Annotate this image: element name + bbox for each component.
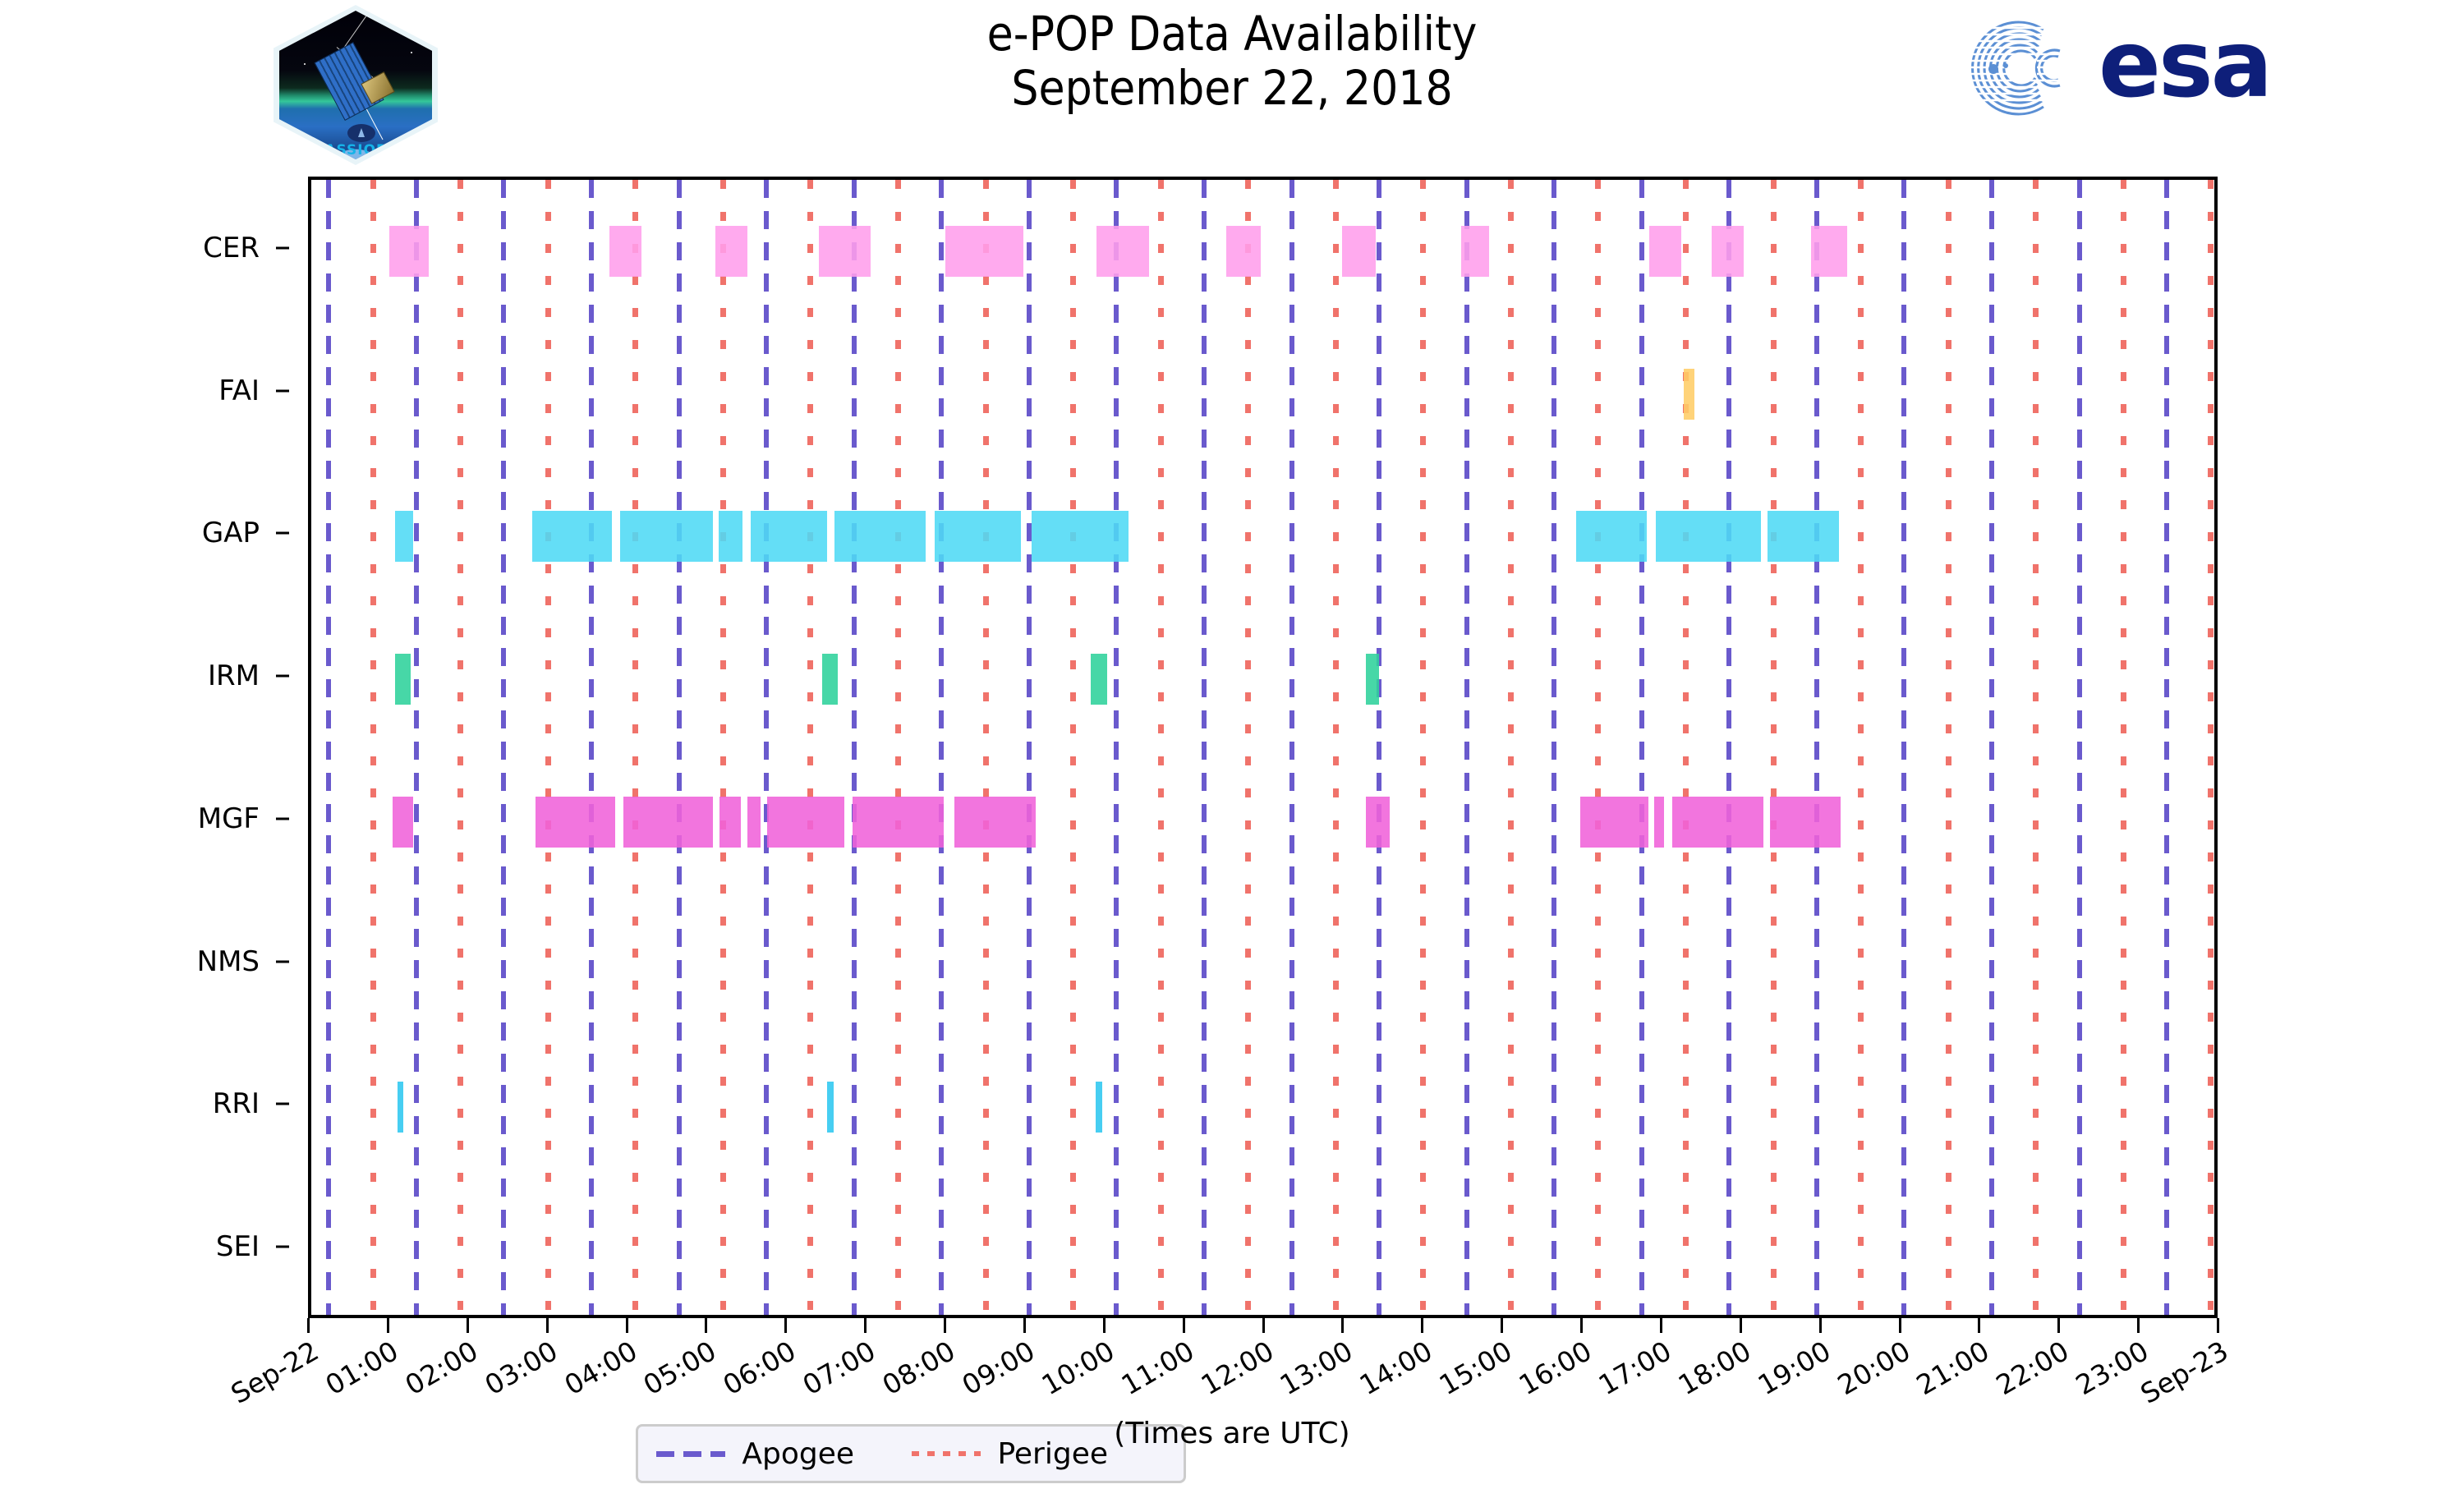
apogee-gridline xyxy=(1551,180,1556,1315)
apogee-gridline xyxy=(764,180,769,1315)
data-bar-cer xyxy=(1342,226,1377,277)
data-bar-cer xyxy=(715,226,747,277)
apogee-gridline xyxy=(677,180,682,1315)
data-bar-rri xyxy=(827,1082,834,1133)
data-bar-gap xyxy=(1032,511,1129,562)
data-bar-gap xyxy=(834,511,925,562)
data-bar-irm xyxy=(1366,654,1379,705)
x-tick-mark xyxy=(1023,1318,1026,1333)
apogee-gridline xyxy=(939,180,944,1315)
data-bar-mgf xyxy=(536,797,615,848)
apogee-gridline xyxy=(2164,180,2169,1315)
x-axis-title: (Times are UTC) xyxy=(0,1417,2464,1450)
perigee-gridline xyxy=(370,180,376,1315)
perigee-gridline xyxy=(1420,180,1426,1315)
data-bar-rri xyxy=(398,1082,404,1133)
perigee-gridline xyxy=(2033,180,2039,1315)
y-tick-label-cer: CER xyxy=(203,232,260,264)
y-tick-mark xyxy=(276,246,289,249)
perigee-gridline xyxy=(1858,180,1864,1315)
data-bar-gap xyxy=(1576,511,1646,562)
data-bar-cer xyxy=(819,226,871,277)
perigee-gridline xyxy=(1070,180,1076,1315)
x-tick-mark xyxy=(467,1318,469,1333)
csa-emblem-icon xyxy=(347,124,375,142)
apogee-gridline xyxy=(1027,180,1032,1315)
x-tick-mark xyxy=(944,1318,946,1333)
y-tick-mark xyxy=(276,960,289,963)
perigee-gridline xyxy=(1158,180,1164,1315)
y-axis-labels: CERFAIGAPIRMMGFNMSRRISEI xyxy=(0,177,289,1318)
data-bar-cer xyxy=(1649,226,1681,277)
x-tick-mark xyxy=(1183,1318,1185,1333)
y-tick-label-rri: RRI xyxy=(213,1087,260,1120)
y-tick-mark xyxy=(276,389,289,392)
data-bar-mgf xyxy=(623,797,713,848)
title-line-2: September 22, 2018 xyxy=(821,61,1643,115)
cassiope-logo-text: CASSIOPE xyxy=(279,142,432,159)
data-bar-gap xyxy=(395,511,413,562)
y-tick-mark xyxy=(276,532,289,535)
data-bar-cer xyxy=(609,226,641,277)
perigee-gridline xyxy=(1595,180,1601,1315)
cassiope-hex-image: CASSIOPE xyxy=(279,11,432,159)
data-bar-irm xyxy=(395,654,411,705)
data-bar-mgf xyxy=(853,797,944,848)
data-bar-mgf xyxy=(954,797,1036,848)
data-bar-cer xyxy=(1226,226,1261,277)
data-bar-cer xyxy=(945,226,1023,277)
esa-logo: esa xyxy=(1955,15,2324,122)
perigee-gridline xyxy=(1771,180,1777,1315)
y-tick-label-gap: GAP xyxy=(202,517,260,549)
perigee-gridline xyxy=(720,180,726,1315)
apogee-gridline xyxy=(589,180,594,1315)
data-bar-gap xyxy=(1768,511,1839,562)
x-tick-mark xyxy=(705,1318,707,1333)
apogee-gridline xyxy=(1114,180,1119,1315)
x-tick-mark xyxy=(1341,1318,1344,1333)
data-bar-mgf xyxy=(1366,797,1390,848)
perigee-gridline xyxy=(1508,180,1514,1315)
data-bar-gap xyxy=(1656,511,1761,562)
apogee-gridline xyxy=(2077,180,2082,1315)
x-tick-mark xyxy=(1501,1318,1503,1333)
x-axis-ticks xyxy=(308,1318,2218,1335)
data-bar-cer xyxy=(1096,226,1149,277)
x-tick-mark xyxy=(1740,1318,1742,1333)
x-tick-mark xyxy=(387,1318,389,1333)
x-tick-mark xyxy=(1978,1318,1980,1333)
data-bar-fai xyxy=(1684,369,1694,420)
esa-emblem-icon xyxy=(1955,15,2094,122)
perigee-gridline xyxy=(632,180,638,1315)
apogee-gridline xyxy=(852,180,857,1315)
apogee-gridline xyxy=(1814,180,1819,1315)
page-title: e-POP Data Availability September 22, 20… xyxy=(821,7,1643,115)
apogee-gridline xyxy=(1202,180,1207,1315)
x-tick-mark xyxy=(1103,1318,1106,1333)
perigee-gridline xyxy=(983,180,989,1315)
data-bar-gap xyxy=(935,511,1022,562)
y-tick-mark xyxy=(276,1103,289,1105)
data-bar-mgf xyxy=(1580,797,1648,848)
data-bar-gap xyxy=(620,511,713,562)
apogee-gridline xyxy=(1289,180,1294,1315)
data-bar-mgf xyxy=(719,797,741,848)
x-tick-mark xyxy=(1580,1318,1583,1333)
data-bar-cer xyxy=(1811,226,1847,277)
apogee-gridline xyxy=(414,180,419,1315)
perigee-gridline xyxy=(1245,180,1251,1315)
apogee-gridline xyxy=(1989,180,1994,1315)
data-bar-rri xyxy=(1096,1082,1102,1133)
data-bar-irm xyxy=(1091,654,1106,705)
y-tick-mark xyxy=(276,817,289,820)
perigee-gridline xyxy=(457,180,463,1315)
data-bar-mgf xyxy=(1770,797,1841,848)
y-tick-mark xyxy=(276,1246,289,1248)
x-tick-mark xyxy=(2057,1318,2060,1333)
data-bar-cer xyxy=(389,226,429,277)
x-tick-mark xyxy=(546,1318,549,1333)
perigee-gridline xyxy=(1946,180,1951,1315)
y-tick-label-mgf: MGF xyxy=(198,802,260,835)
data-bar-mgf xyxy=(1654,797,1664,848)
y-tick-label-sei: SEI xyxy=(216,1230,260,1263)
x-tick-mark xyxy=(307,1318,310,1333)
x-tick-mark xyxy=(626,1318,628,1333)
perigee-gridline xyxy=(545,180,551,1315)
esa-wordmark: esa xyxy=(2099,11,2270,118)
data-bar-mgf xyxy=(393,797,413,848)
data-bar-cer xyxy=(1712,226,1744,277)
apogee-gridline xyxy=(1464,180,1469,1315)
title-line-1: e-POP Data Availability xyxy=(821,7,1643,61)
apogee-gridline xyxy=(1377,180,1381,1315)
data-bar-gap xyxy=(751,511,827,562)
cassiope-logo: CASSIOPE xyxy=(274,5,438,165)
data-bar-gap xyxy=(532,511,612,562)
y-tick-label-nms: NMS xyxy=(197,945,260,978)
apogee-gridline xyxy=(1901,180,1906,1315)
perigee-gridline xyxy=(807,180,813,1315)
chart-plot-area xyxy=(311,180,2214,1315)
data-bar-irm xyxy=(822,654,838,705)
y-tick-mark xyxy=(276,675,289,678)
apogee-gridline xyxy=(326,180,331,1315)
x-tick-mark xyxy=(784,1318,787,1333)
chart-plot-frame: Apogee Perigee xyxy=(308,177,2218,1318)
apogee-gridline xyxy=(1639,180,1644,1315)
x-tick-mark xyxy=(1819,1318,1822,1333)
perigee-gridline xyxy=(895,180,901,1315)
x-tick-mark xyxy=(1421,1318,1423,1333)
x-tick-mark xyxy=(2217,1318,2219,1333)
perigee-gridline xyxy=(1333,180,1339,1315)
data-bar-cer xyxy=(1461,226,1489,277)
data-bar-mgf xyxy=(747,797,761,848)
y-tick-label-fai: FAI xyxy=(218,374,260,407)
data-bar-mgf xyxy=(767,797,844,848)
data-bar-gap xyxy=(719,511,742,562)
x-tick-mark xyxy=(1262,1318,1265,1333)
perigee-gridline xyxy=(2208,180,2213,1315)
apogee-gridline xyxy=(1726,180,1731,1315)
x-tick-mark xyxy=(1660,1318,1662,1333)
x-tick-mark xyxy=(1899,1318,1901,1333)
apogee-gridline xyxy=(501,180,506,1315)
perigee-gridline xyxy=(1683,180,1689,1315)
perigee-gridline xyxy=(2121,180,2126,1315)
x-tick-mark xyxy=(2137,1318,2140,1333)
page-header: CASSIOPE e-POP Data Availability Septemb… xyxy=(0,0,2464,177)
x-tick-mark xyxy=(864,1318,867,1333)
data-bar-mgf xyxy=(1672,797,1763,848)
y-tick-label-irm: IRM xyxy=(208,659,260,692)
